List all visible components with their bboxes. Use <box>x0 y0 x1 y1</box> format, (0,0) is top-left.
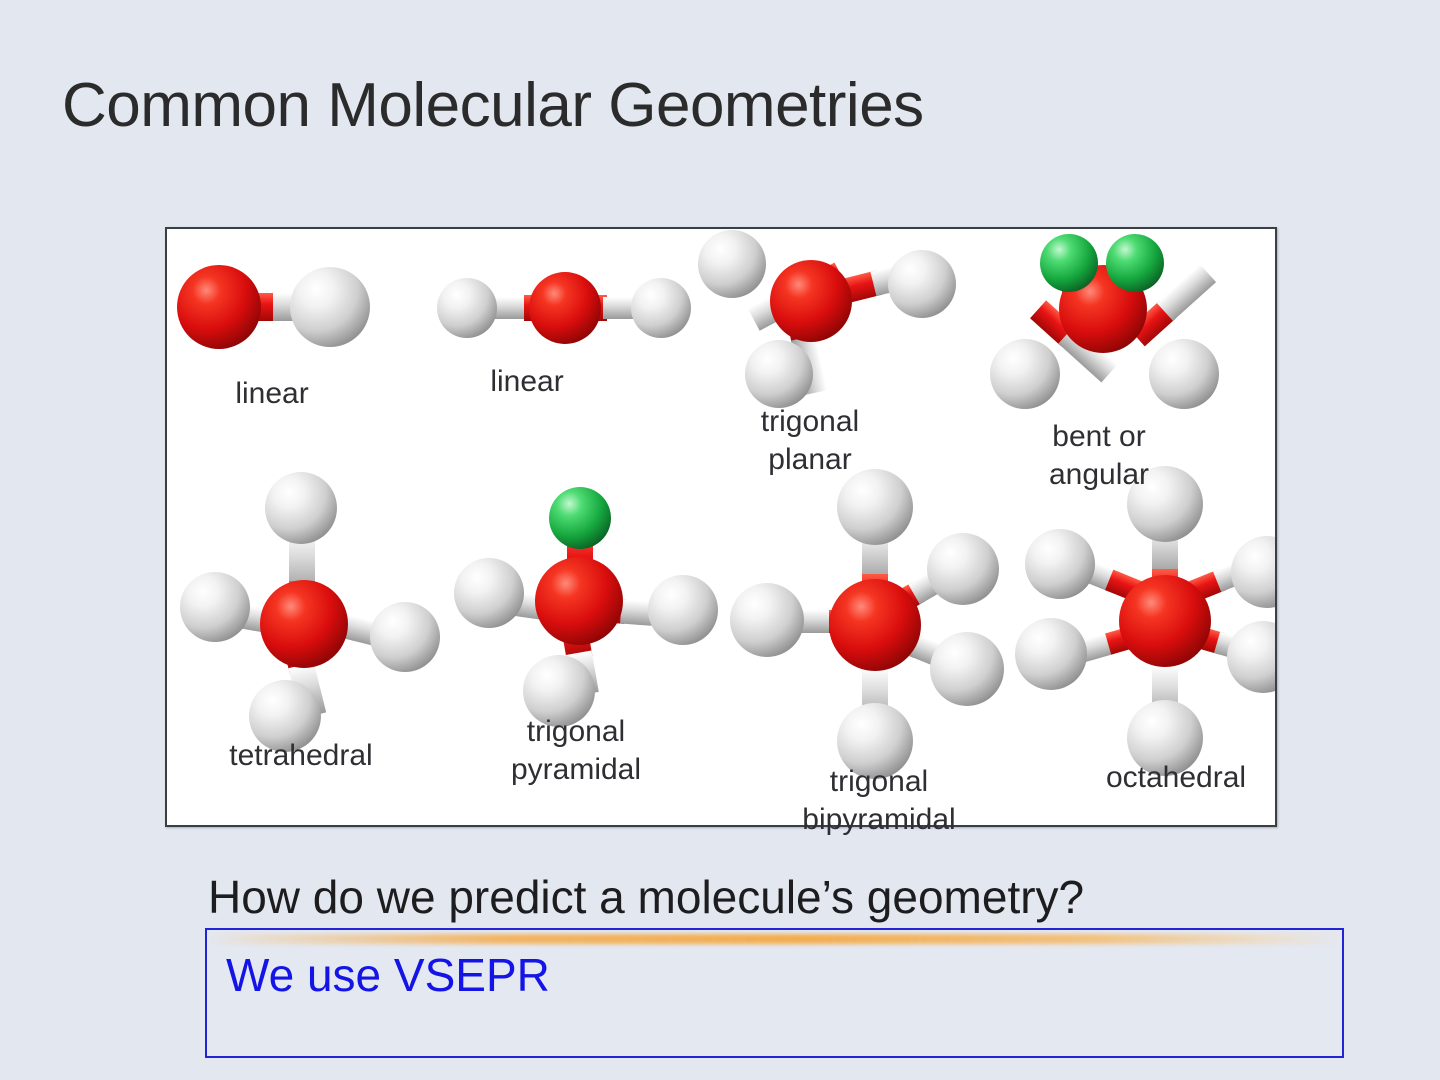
answer-text: We use VSEPR <box>226 948 550 1002</box>
question-text: How do we predict a molecule’s geometry? <box>208 870 1084 924</box>
page-title: Common Molecular Geometries <box>62 72 924 140</box>
answer-accent-bar <box>207 934 1342 944</box>
molecule-illustrations <box>167 229 1275 825</box>
molecular-geometry-figure: linear linear trigonal planar bent or an… <box>165 227 1277 827</box>
answer-textbox[interactable]: We use VSEPR <box>205 928 1344 1058</box>
